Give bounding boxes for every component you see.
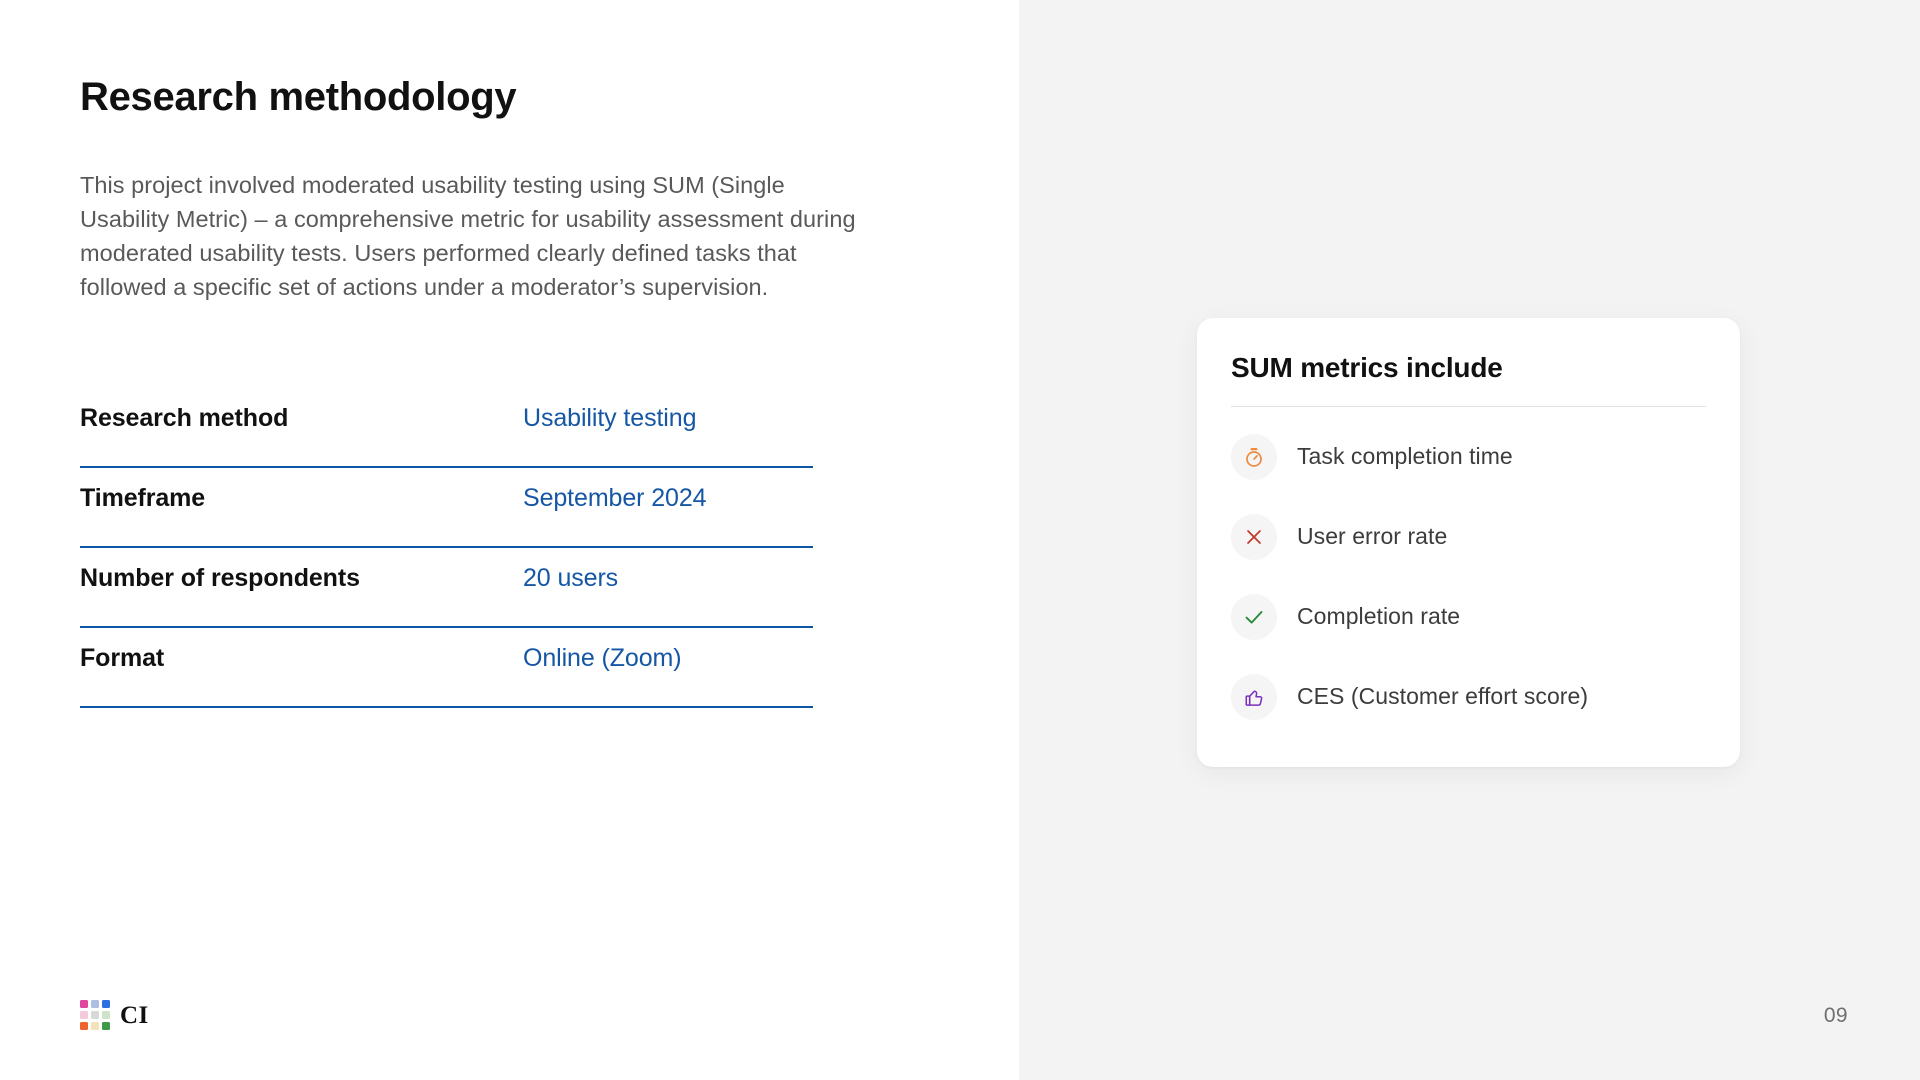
spec-label: Research method: [80, 390, 523, 433]
logo-dot: [102, 1011, 110, 1019]
spec-value: 20 users: [523, 548, 618, 593]
spec-value: September 2024: [523, 468, 706, 513]
table-row: Timeframe September 2024: [80, 468, 813, 548]
metric-list: Task completion time User error rate: [1231, 417, 1706, 737]
left-panel: Research methodology This project involv…: [0, 0, 1019, 1080]
spec-value: Usability testing: [523, 388, 696, 433]
metric-label: User error rate: [1297, 523, 1447, 551]
page-title: Research methodology: [80, 74, 880, 120]
spec-label: Format: [80, 630, 523, 673]
intro-paragraph: This project involved moderated usabilit…: [80, 120, 870, 304]
metric-label: Task completion time: [1297, 443, 1513, 471]
right-panel: SUM metrics include Task completion time: [1019, 0, 1920, 1080]
logo-dot-grid-icon: [80, 1000, 110, 1030]
logo-dot: [80, 1000, 88, 1008]
logo-dot: [102, 1000, 110, 1008]
spec-label: Timeframe: [80, 470, 523, 513]
list-item: User error rate: [1231, 497, 1706, 577]
thumbs-up-icon: [1231, 674, 1277, 720]
table-row: Number of respondents 20 users: [80, 548, 813, 628]
metrics-card-title: SUM metrics include: [1231, 352, 1706, 406]
brand-logo: CI: [80, 1000, 149, 1030]
left-content: Research methodology This project involv…: [80, 74, 880, 304]
slide: Research methodology This project involv…: [0, 0, 1920, 1080]
metric-label: CES (Customer effort score): [1297, 683, 1588, 711]
metrics-card: SUM metrics include Task completion time: [1197, 318, 1740, 767]
check-icon: [1231, 594, 1277, 640]
table-row: Format Online (Zoom): [80, 628, 813, 708]
table-row: Research method Usability testing: [80, 388, 813, 468]
list-item: Task completion time: [1231, 417, 1706, 497]
logo-dot: [102, 1022, 110, 1030]
stopwatch-icon: [1231, 434, 1277, 480]
logo-dot: [91, 1011, 99, 1019]
logo-dot: [91, 1000, 99, 1008]
metric-label: Completion rate: [1297, 603, 1460, 631]
close-x-icon: [1231, 514, 1277, 560]
logo-wordmark: CI: [120, 1003, 149, 1028]
logo-dot: [91, 1022, 99, 1030]
spec-label: Number of respondents: [80, 550, 523, 593]
logo-dot: [80, 1011, 88, 1019]
list-item: CES (Customer effort score): [1231, 657, 1706, 737]
logo-dot: [80, 1022, 88, 1030]
spec-table: Research method Usability testing Timefr…: [80, 388, 813, 708]
card-divider: [1231, 406, 1706, 407]
spec-value: Online (Zoom): [523, 628, 681, 673]
list-item: Completion rate: [1231, 577, 1706, 657]
page-number: 09: [1824, 1004, 1848, 1028]
